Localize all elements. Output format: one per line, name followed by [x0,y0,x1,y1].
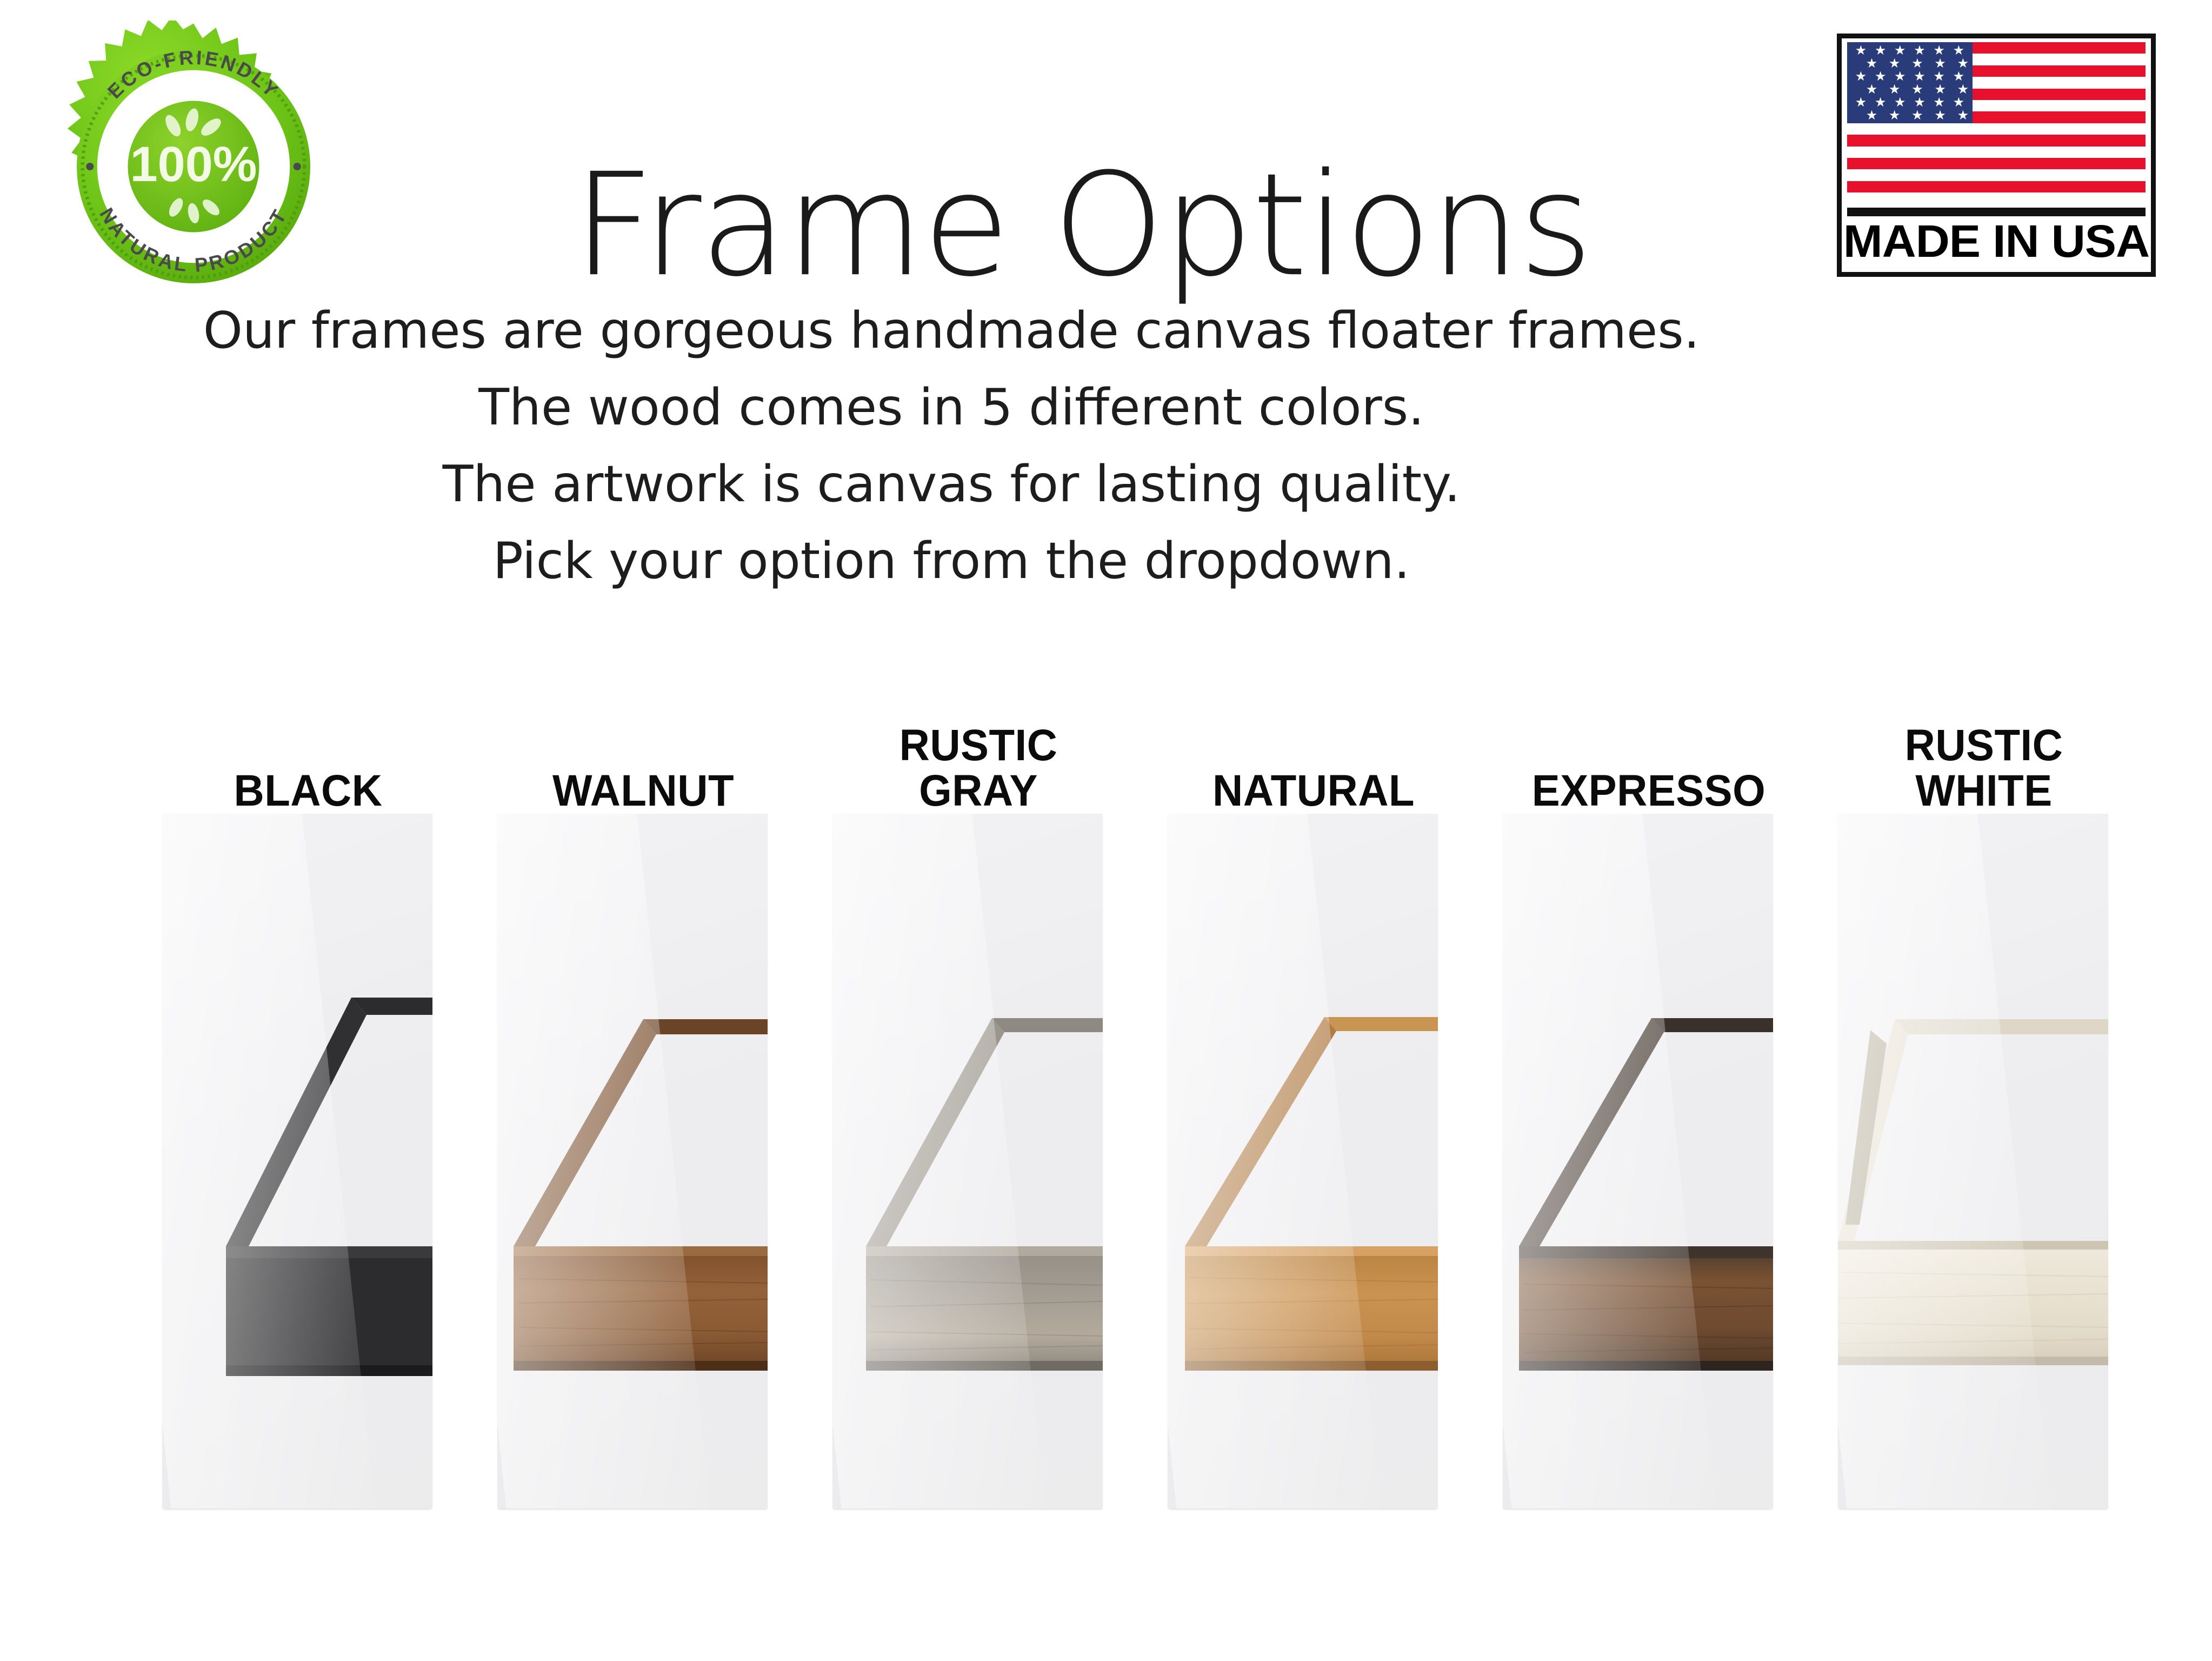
page-title: Frame Options [573,155,1795,296]
badge-dot-left [86,163,94,170]
label-line-2: GRAY [840,768,1117,814]
frame-swatch-rustic-white[interactable]: RUSTIC WHITE [1838,654,2130,1519]
frame-photo-expresso [1503,814,1773,1509]
intro-line-2: The wood comes in 5 different colors. [0,369,1903,446]
label-line-1: RUSTIC [1905,721,2063,770]
intro-paragraph: Our frames are gorgeous handmade canvas … [0,292,1903,599]
badge-percent-label: 100% [130,137,257,192]
badge-dot-right [294,163,301,170]
made-in-usa-caption: MADE IN USA [1841,218,2151,264]
intro-line-4: Pick your option from the dropdown. [0,522,1903,599]
usa-divider-rule [1847,208,2146,216]
frame-swatch-label-expresso: EXPRESSO [1510,768,1788,814]
intro-line-3: The artwork is canvas for lasting qualit… [0,446,1903,522]
label-line-1: RUSTIC [900,721,1058,770]
usa-flag-icon: ★★★★★★ ★★★★★ ★★★★★★ ★★★★★ ★★★★★★ ★★★★★ ★… [1847,42,2146,204]
frame-swatch-rustic-gray[interactable]: RUSTIC GRAY [832,654,1124,1519]
frame-swatch-label-rustic-gray: RUSTIC GRAY [840,723,1117,814]
label-line-1: EXPRESSO [1532,766,1765,815]
frame-photo-walnut [497,814,768,1509]
frame-swatch-label-black: BLACK [170,768,447,814]
label-line-1: BLACK [234,766,383,815]
frame-photo-rustic-gray [832,814,1103,1509]
frame-swatch-label-walnut: WALNUT [505,768,782,814]
frame-swatch-natural[interactable]: NATURAL [1168,654,1460,1519]
poster-canvas: 100% ECO-FRIENDLY NATURAL PRODUCT ★★★★★★… [0,0,2212,1661]
made-in-usa-badge: ★★★★★★ ★★★★★ ★★★★★★ ★★★★★ ★★★★★★ ★★★★★ ★… [1837,34,2156,277]
eco-friendly-badge: 100% ECO-FRIENDLY NATURAL PRODUCT [48,21,339,313]
label-line-2: WHITE [1845,768,2123,814]
frame-swatch-walnut[interactable]: WALNUT [497,654,789,1519]
frame-swatch-label-natural: NATURAL [1175,768,1453,814]
frame-swatch-black[interactable]: BLACK [162,654,454,1519]
frame-photo-rustic-white [1838,814,2108,1509]
frame-photo-black [162,814,432,1509]
label-line-1: WALNUT [552,766,734,815]
intro-line-1: Our frames are gorgeous handmade canvas … [0,292,1903,369]
frame-swatch-expresso[interactable]: EXPRESSO [1503,654,1795,1519]
usa-flag-canton: ★★★★★★ ★★★★★ ★★★★★★ ★★★★★ ★★★★★★ ★★★★★ ★… [1847,42,1973,123]
label-line-1: NATURAL [1212,766,1415,815]
frame-photo-natural [1168,814,1438,1509]
frame-swatch-label-rustic-white: RUSTIC WHITE [1845,723,2123,814]
frame-color-swatch-row: BLACK WALNUT [162,654,2130,1519]
